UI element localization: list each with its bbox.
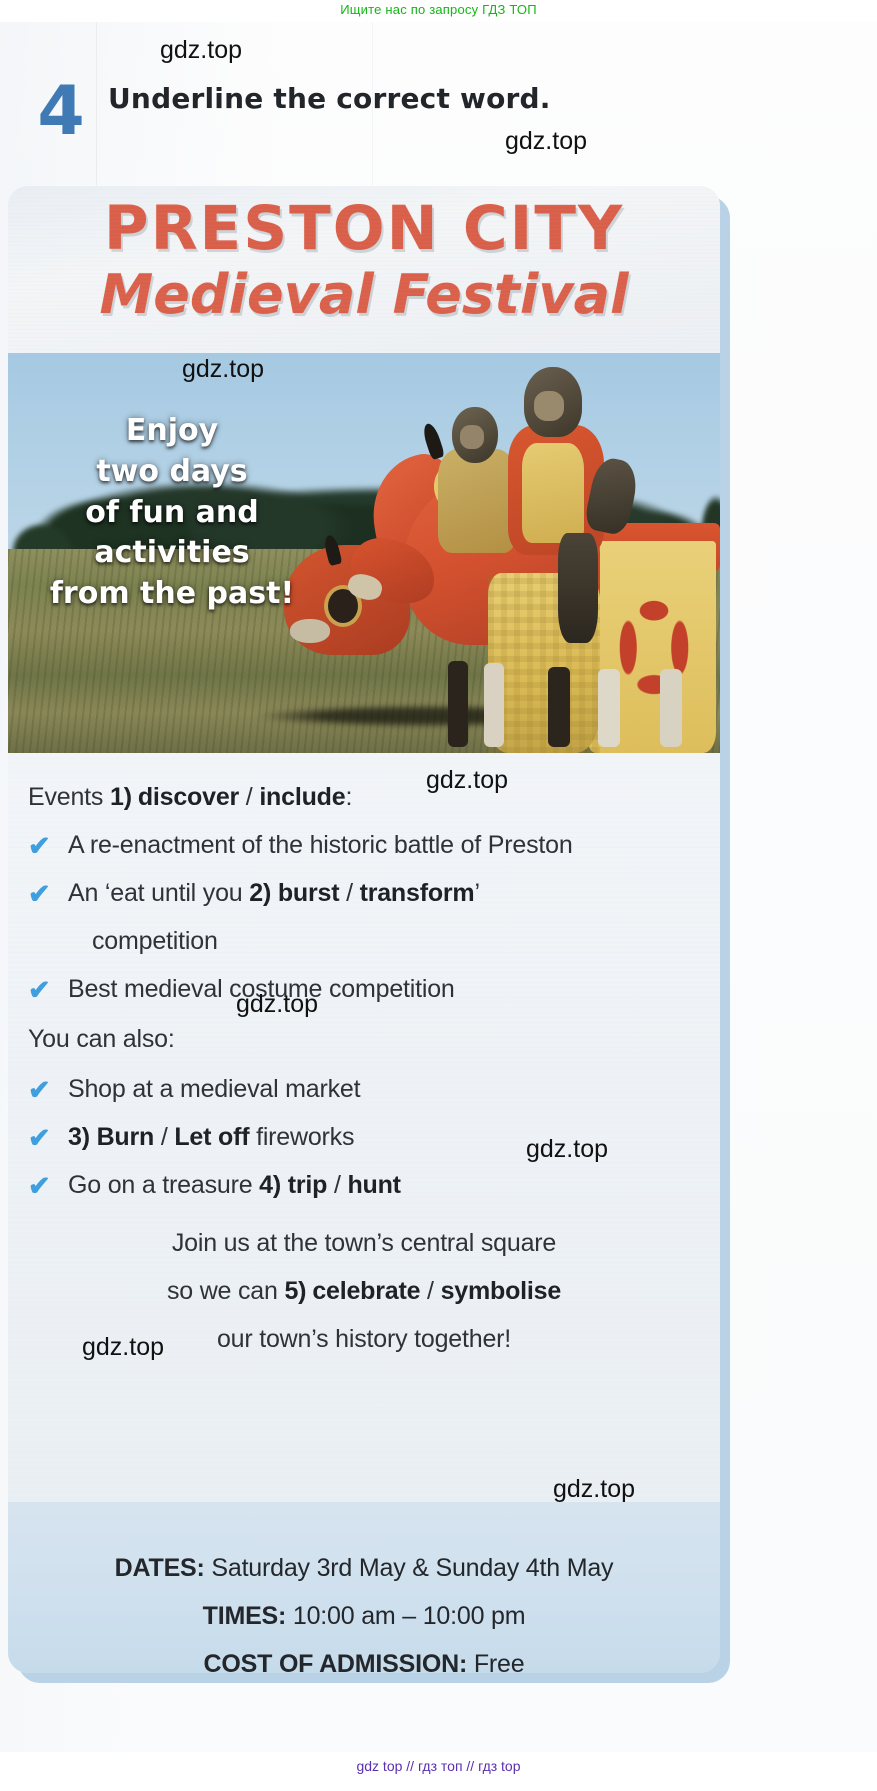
gap-5-option-a[interactable]: celebrate (306, 1277, 420, 1305)
check-icon: ✔ (28, 881, 52, 908)
gap-5-option-b[interactable]: symbolise (441, 1277, 561, 1305)
eagle-emblem-icon (608, 579, 700, 711)
list-item: ✔ 3) Burn / Let off fireworks (28, 1123, 354, 1152)
footer-times-key: TIMES: (203, 1602, 287, 1630)
poster-title-line2: Medieval Festival (8, 268, 720, 322)
event-2-second-line: competition (92, 927, 218, 956)
watermark: gdz.top (236, 990, 318, 1019)
event-2-prefix: An ‘eat until you (68, 879, 249, 907)
watermark: gdz.top (182, 355, 264, 384)
bottom-promo-banner: gdz top // гдз топ // гдз top (0, 1758, 877, 1774)
gap-2-option-a[interactable]: 2) burst (249, 879, 339, 907)
check-icon: ✔ (28, 1125, 52, 1152)
slogan-line: from the past! (22, 574, 322, 615)
footer-dates-value: Saturday 3rd May & Sunday 4th May (205, 1554, 614, 1582)
watermark: gdz.top (160, 36, 242, 65)
knights-on-horseback (308, 363, 720, 753)
gap-1-option-a[interactable]: discover (132, 783, 239, 811)
check-icon: ✔ (28, 1077, 52, 1104)
also-1-text: Shop at a medieval market (68, 1075, 360, 1104)
rider-face (534, 391, 564, 421)
gap-4-option-b[interactable]: hunt (347, 1171, 400, 1199)
check-icon: ✔ (28, 977, 52, 1004)
gap-4-slash: / (327, 1171, 347, 1199)
footer-dates-key: DATES: (115, 1554, 205, 1582)
second-rider-face (460, 425, 484, 449)
footer-times: TIMES: 10:00 am – 10:00 pm (8, 1602, 720, 1631)
also-3-text: Go on a treasure 4) trip / hunt (68, 1171, 401, 1200)
also-3-prefix: Go on a treasure (68, 1171, 259, 1199)
closing-line-1: Join us at the town’s central square (8, 1231, 720, 1256)
footer-cost: COST OF ADMISSION: Free (8, 1650, 720, 1673)
photo-slogan: Enjoy two days of fun and activities fro… (22, 411, 322, 615)
second-rider-body (438, 449, 516, 553)
exercise-number: 4 (30, 78, 92, 146)
list-item: ✔ A re-enactment of the historic battle … (28, 831, 573, 860)
gap-5-slash: / (420, 1277, 440, 1305)
gap-1-number[interactable]: 1) (110, 783, 132, 811)
also-2-text: 3) Burn / Let off fireworks (68, 1123, 354, 1152)
footer-times-value: 10:00 am – 10:00 pm (286, 1602, 525, 1630)
scan-artifact-line (96, 22, 97, 202)
gap-2-option-b[interactable]: transform (360, 879, 475, 907)
poster-title-band: PRESTON CITY Medieval Festival (8, 186, 720, 353)
horse-leg (548, 667, 570, 747)
slogan-line: of fun and (22, 493, 322, 534)
horse-leg (448, 661, 468, 747)
slogan-line: two days (22, 452, 322, 493)
exercise-instruction: Underline the correct word. (108, 82, 551, 115)
events-lead-prefix: Events (28, 783, 110, 811)
gap-3-slash: / (154, 1123, 174, 1151)
footer-dates: DATES: Saturday 3rd May & Sunday 4th May (8, 1554, 720, 1583)
gap-2-slash: / (339, 879, 359, 907)
gap-5-number[interactable]: 5) (284, 1277, 306, 1305)
event-2-quote: ’ (474, 879, 479, 907)
also-2-suffix: fireworks (249, 1123, 354, 1151)
watermark: gdz.top (82, 1333, 164, 1362)
check-icon: ✔ (28, 833, 52, 860)
horse-leg (660, 669, 682, 747)
gap-1-option-b[interactable]: include (259, 783, 345, 811)
closing-prefix: so we can (167, 1277, 285, 1305)
watermark: gdz.top (426, 766, 508, 795)
rider-tabard (522, 443, 584, 543)
footer-cost-key: COST OF ADMISSION: (204, 1650, 468, 1673)
poster-footer-band: DATES: Saturday 3rd May & Sunday 4th May… (8, 1502, 720, 1673)
closing-line-2: so we can 5)celebrate / symbolise (8, 1279, 720, 1304)
watermark: gdz.top (526, 1135, 608, 1164)
event-2-text: An ‘eat until you 2) burst / transform’ (68, 879, 480, 908)
check-icon: ✔ (28, 1173, 52, 1200)
poster-body: Events 1)discover / include: ✔ A re-enac… (8, 753, 720, 1502)
festival-photo: Enjoy two days of fun and activities fro… (8, 353, 720, 753)
gap-3-option-b[interactable]: Let off (174, 1123, 249, 1151)
watermark: gdz.top (505, 127, 587, 156)
events-lead-suffix: : (345, 783, 352, 811)
watermark: gdz.top (553, 1475, 635, 1504)
also-lead: You can also: (28, 1025, 175, 1054)
list-item: ✔ Shop at a medieval market (28, 1075, 360, 1104)
poster-title-line1: PRESTON CITY (8, 198, 720, 259)
list-item: ✔ An ‘eat until you 2) burst / transform… (28, 879, 480, 908)
gap-4-option-a[interactable]: 4) trip (259, 1171, 327, 1199)
list-item: ✔ Go on a treasure 4) trip / hunt (28, 1171, 401, 1200)
events-lead: Events 1)discover / include: (28, 783, 352, 812)
gap-3-option-a[interactable]: 3) Burn (68, 1123, 154, 1151)
top-promo-banner: Ищите нас по запросу ГДЗ ТОП (0, 2, 877, 17)
rider-leg (558, 533, 598, 643)
poster-card: PRESTON CITY Medieval Festival (8, 186, 720, 1673)
slogan-line: Enjoy (22, 411, 322, 452)
second-horse-muzzle (290, 619, 330, 643)
slogan-line: activities (22, 533, 322, 574)
gap-1-slash: / (239, 783, 259, 811)
event-1-text: A re-enactment of the historic battle of… (68, 831, 573, 860)
horse-leg (598, 669, 620, 747)
horse-leg (484, 663, 504, 747)
footer-cost-value: Free (467, 1650, 524, 1673)
